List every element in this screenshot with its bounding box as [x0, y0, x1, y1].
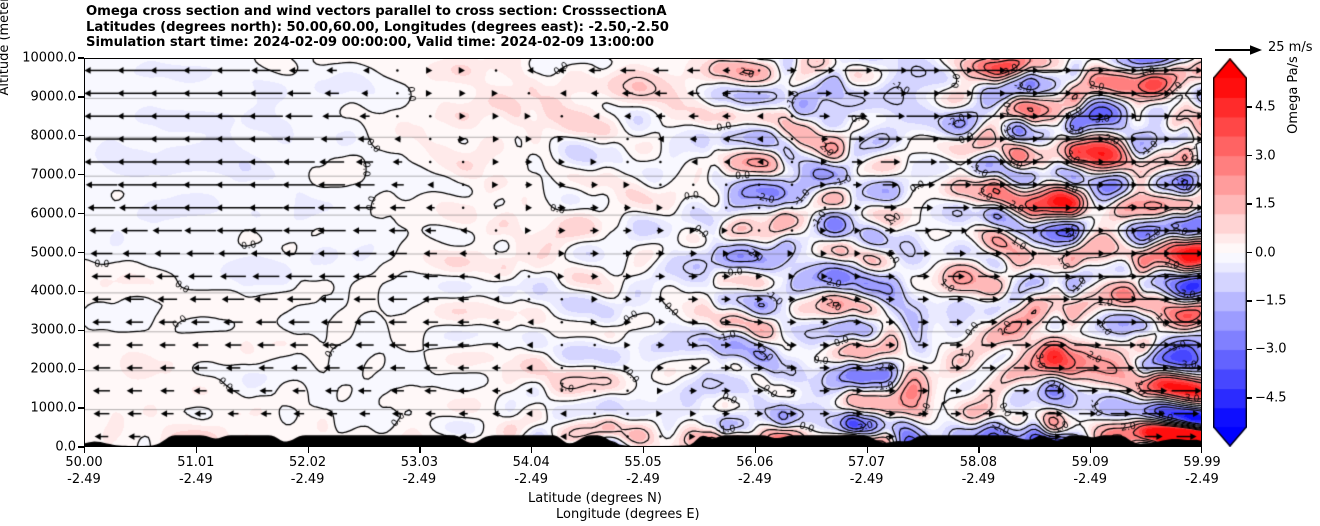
x-tick-longitude: -2.49: [177, 472, 214, 487]
chart-page: Omega cross section and wind vectors par…: [0, 0, 1320, 526]
y-axis-tick-marks: [76, 58, 84, 447]
x-axis-label-longitude: Longitude (degrees E): [556, 507, 700, 522]
colorbar-tick-mark: [1247, 155, 1252, 156]
y-tick-label: 5000.0: [31, 245, 77, 260]
x-tick-latitude: 58.08: [960, 455, 997, 470]
x-tick-latitude: 56.06: [736, 455, 773, 470]
y-tick-label: 8000.0: [31, 128, 77, 143]
arrow-right-icon: [1215, 43, 1263, 57]
colorbar-tick-mark: [1247, 300, 1252, 301]
y-tick-label: 9000.0: [31, 89, 77, 104]
x-tick-latitude: 54.04: [513, 455, 550, 470]
x-tick-label: 59.99-2.49: [1183, 455, 1220, 487]
colorbar-tick-mark: [1247, 397, 1252, 398]
x-tick-mark: [531, 447, 532, 453]
x-tick-mark: [196, 447, 197, 453]
colorbar-tick-mark: [1247, 203, 1252, 204]
x-tick-label: 57.07-2.49: [848, 455, 885, 487]
x-tick-label: 55.05-2.49: [624, 455, 661, 487]
x-tick-latitude: 59.99: [1183, 455, 1220, 470]
colorbar-label: Omega Pa/s: [1286, 15, 1301, 175]
x-tick-label: 52.02-2.49: [289, 455, 326, 487]
colorbar-tick-label: −3.0: [1255, 342, 1287, 357]
x-tick-mark: [978, 447, 979, 453]
title-line-2: Latitudes (degrees north): 50.00,60.00, …: [86, 20, 1186, 36]
x-axis-label-latitude: Latitude (degrees N): [528, 491, 662, 506]
x-tick-longitude: -2.49: [624, 472, 661, 487]
y-tick-label: 6000.0: [31, 206, 77, 221]
x-tick-label: 53.03-2.49: [401, 455, 438, 487]
colorbar-gradient: [1213, 58, 1247, 447]
x-tick-latitude: 57.07: [848, 455, 885, 470]
y-tick-label: 2000.0: [31, 362, 77, 377]
x-tick-mark: [755, 447, 756, 453]
x-tick-longitude: -2.49: [736, 472, 773, 487]
omega-cross-section-canvas: [85, 59, 1202, 447]
x-tick-label: 54.04-2.49: [513, 455, 550, 487]
colorbar: [1213, 58, 1247, 447]
x-tick-mark: [643, 447, 644, 453]
x-tick-longitude: -2.49: [960, 472, 997, 487]
colorbar-tick-label: 1.5: [1255, 197, 1276, 212]
colorbar-tick-mark: [1247, 252, 1252, 253]
x-tick-label: 58.08-2.49: [960, 455, 997, 487]
x-tick-longitude: -2.49: [513, 472, 550, 487]
x-tick-label: 51.01-2.49: [177, 455, 214, 487]
x-tick-longitude: -2.49: [1183, 472, 1220, 487]
quiver-key: 25 m/s: [1213, 40, 1320, 60]
y-tick-label: 1000.0: [31, 401, 77, 416]
x-tick-label: 59.09-2.49: [1072, 455, 1109, 487]
x-axis-tick-labels: 50.00-2.4951.01-2.4952.02-2.4953.03-2.49…: [0, 455, 1320, 495]
y-tick-label: 0.0: [55, 440, 76, 455]
x-tick-mark: [84, 447, 85, 453]
x-tick-latitude: 59.09: [1072, 455, 1109, 470]
x-tick-longitude: -2.49: [289, 472, 326, 487]
x-tick-latitude: 52.02: [289, 455, 326, 470]
x-tick-mark: [419, 447, 420, 453]
x-tick-label: 50.00-2.49: [65, 455, 102, 487]
x-axis-tick-marks: [84, 447, 1202, 455]
x-tick-longitude: -2.49: [1072, 472, 1109, 487]
x-tick-mark: [308, 447, 309, 453]
colorbar-tick-label: 3.0: [1255, 148, 1276, 163]
y-tick-label: 7000.0: [31, 167, 77, 182]
y-tick-label: 10000.0: [22, 51, 76, 66]
x-tick-label: 56.06-2.49: [736, 455, 773, 487]
x-tick-latitude: 53.03: [401, 455, 438, 470]
x-tick-longitude: -2.49: [65, 472, 102, 487]
colorbar-tick-mark: [1247, 349, 1252, 350]
x-tick-longitude: -2.49: [848, 472, 885, 487]
x-tick-mark: [867, 447, 868, 453]
colorbar-tick-mark: [1247, 106, 1252, 107]
x-tick-latitude: 55.05: [624, 455, 661, 470]
plot-area: [84, 58, 1202, 447]
title-line-3: Simulation start time: 2024-02-09 00:00:…: [86, 35, 1186, 51]
x-tick-longitude: -2.49: [401, 472, 438, 487]
x-tick-latitude: 50.00: [65, 455, 102, 470]
page-title: Omega cross section and wind vectors par…: [86, 4, 1186, 51]
colorbar-tick-label: 4.5: [1255, 100, 1276, 115]
x-tick-mark: [1090, 447, 1091, 453]
colorbar-tick-label: −1.5: [1255, 293, 1287, 308]
y-tick-label: 4000.0: [31, 284, 77, 299]
colorbar-tick-label: −4.5: [1255, 390, 1287, 405]
x-tick-latitude: 51.01: [177, 455, 214, 470]
x-tick-mark: [1201, 447, 1202, 453]
colorbar-tick-label: 0.0: [1255, 245, 1276, 260]
title-line-1: Omega cross section and wind vectors par…: [86, 4, 1186, 20]
y-tick-label: 3000.0: [31, 323, 77, 338]
y-axis-tick-labels: 0.01000.02000.03000.04000.05000.06000.07…: [0, 58, 76, 447]
